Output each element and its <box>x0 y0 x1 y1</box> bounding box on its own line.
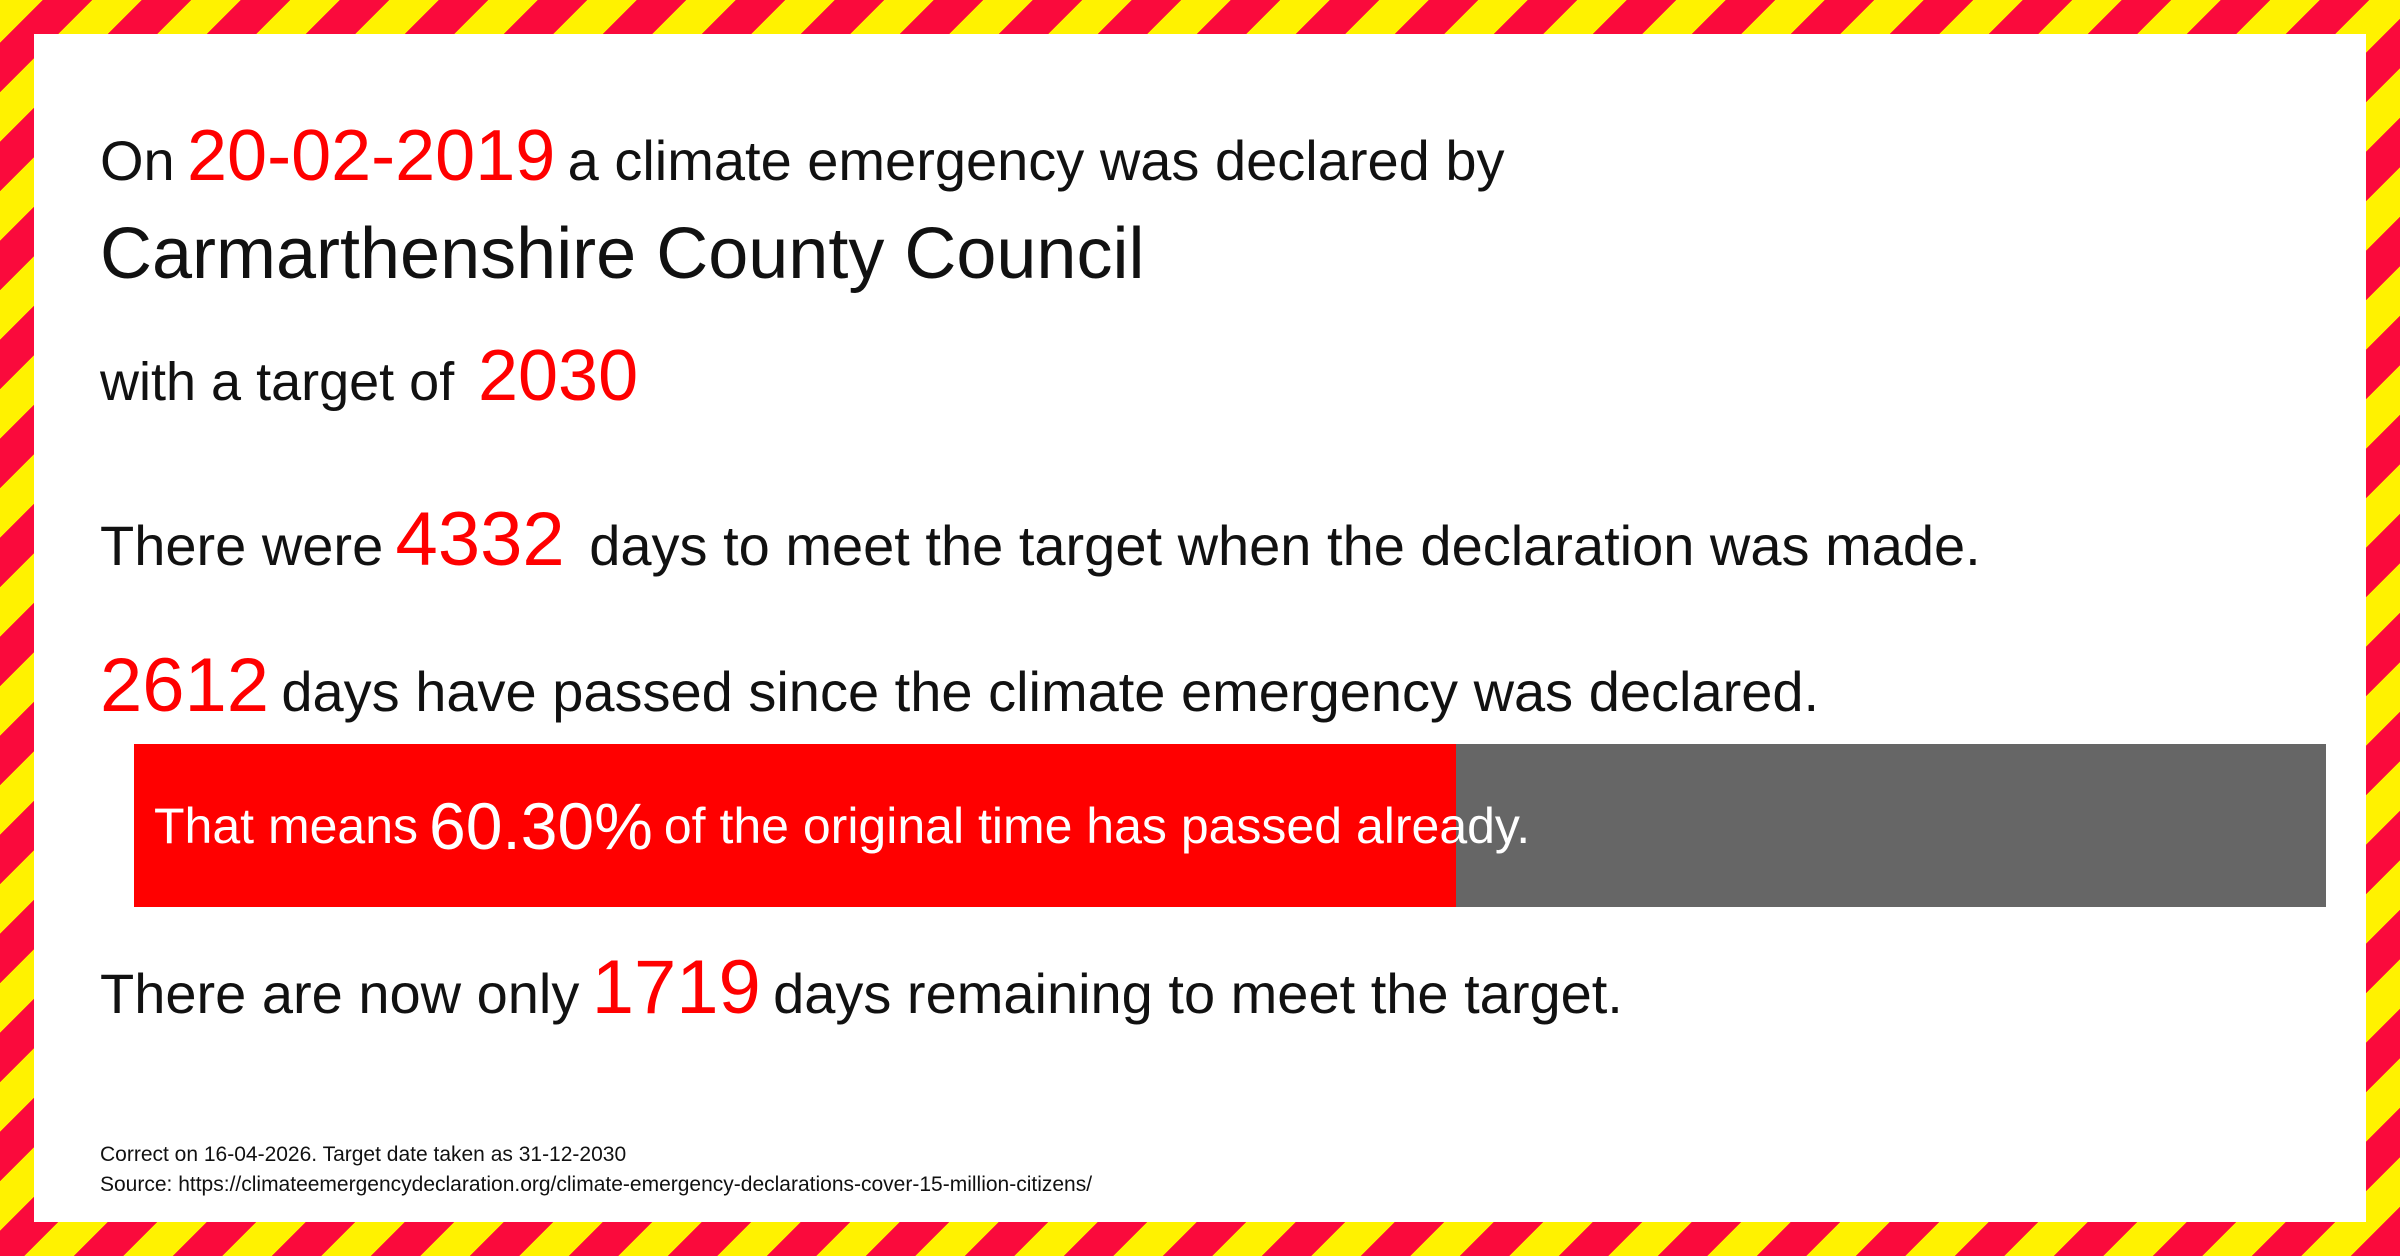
declaration-suffix: a climate emergency was declared by <box>568 129 1505 192</box>
declaration-date: 20-02-2019 <box>187 116 555 196</box>
poster-content: On20-02-2019a climate emergency was decl… <box>100 50 2326 1222</box>
declaration-headline: On20-02-2019a climate emergency was decl… <box>100 120 1505 192</box>
remaining-days-prefix: There are now only <box>100 962 579 1025</box>
footnote-source: Source: https://climateemergencydeclarat… <box>100 1170 1092 1200</box>
remaining-days-value: 1719 <box>592 945 761 1030</box>
target-prefix: with a target of <box>100 352 454 412</box>
elapsed-days-line: 2612days have passed since the climate e… <box>100 648 1819 724</box>
remaining-days-suffix: days remaining to meet the target. <box>773 962 1623 1025</box>
target-line: with a target of2030 <box>100 340 638 412</box>
progress-percent-value: 60.30% <box>429 788 653 864</box>
declaration-prefix: On <box>100 129 175 192</box>
footnote-correct-on: Correct on 16-04-2026. Target date taken… <box>100 1140 1092 1170</box>
footnotes: Correct on 16-04-2026. Target date taken… <box>100 1140 1092 1201</box>
elapsed-days-value: 2612 <box>100 643 269 728</box>
progress-bar-label: That means60.30%of the original time has… <box>154 744 1530 907</box>
elapsed-days-suffix: days have passed since the climate emerg… <box>281 660 1819 723</box>
progress-label-prefix: That means <box>154 797 418 855</box>
original-days-prefix: There were <box>100 514 383 577</box>
poster-card: On20-02-2019a climate emergency was decl… <box>34 34 2366 1222</box>
original-days-value: 4332 <box>396 497 565 582</box>
original-days-line: There were4332days to meet the target wh… <box>100 502 1981 578</box>
declaring-authority: Carmarthenshire County Council <box>100 218 1144 290</box>
original-days-suffix: days to meet the target when the declara… <box>589 514 1980 577</box>
target-year: 2030 <box>478 336 638 416</box>
progress-bar-track: That means60.30%of the original time has… <box>134 744 2326 907</box>
remaining-days-line: There are now only1719days remaining to … <box>100 950 1623 1026</box>
poster-frame: On20-02-2019a climate emergency was decl… <box>0 0 2400 1256</box>
progress-label-suffix: of the original time has passed already. <box>664 797 1530 855</box>
